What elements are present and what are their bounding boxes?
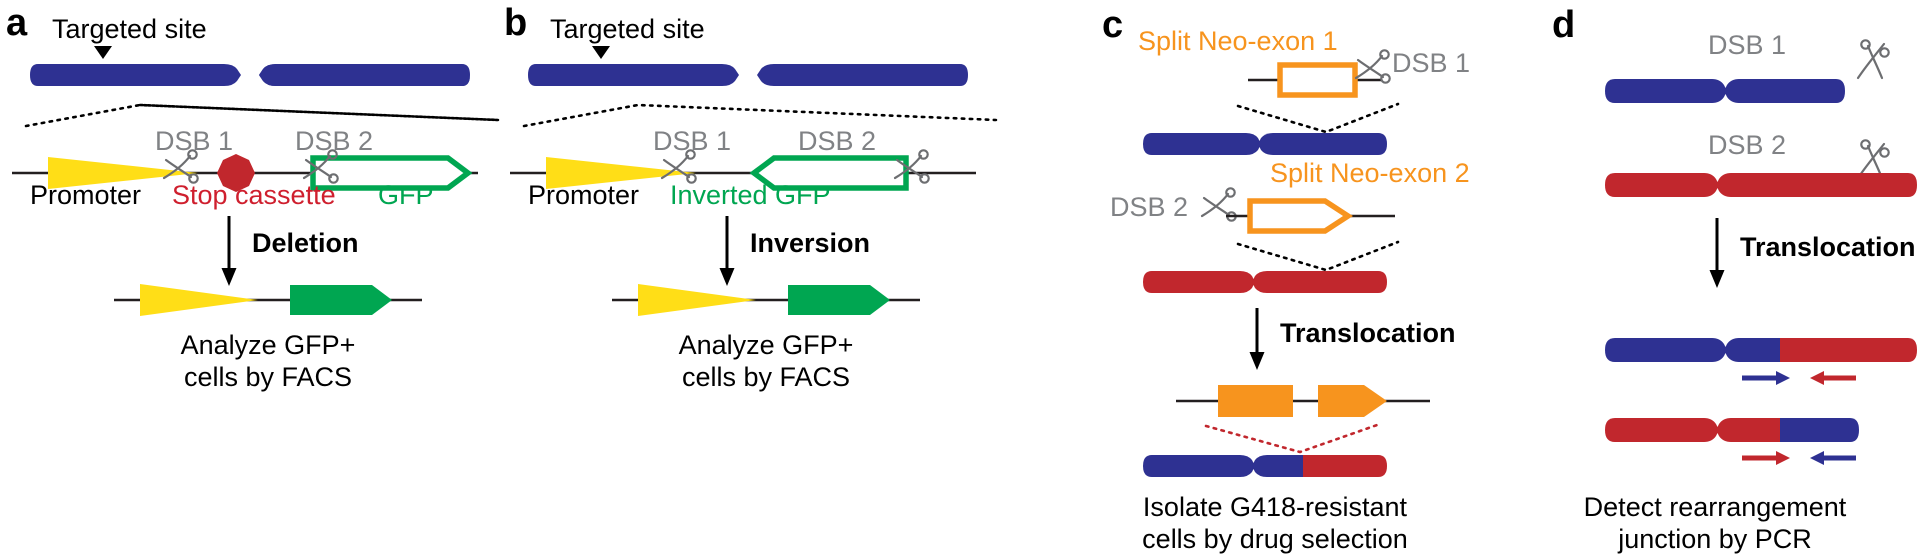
triangle-pointer-icon xyxy=(92,44,114,60)
chromosome-red-c xyxy=(1140,268,1390,296)
panel-b-label: b xyxy=(504,4,527,42)
chromosome-blue-b xyxy=(526,62,970,88)
pcr-primer-arrow-icon-pair-1-d xyxy=(1740,368,1860,388)
panel-c-label: c xyxy=(1102,6,1123,44)
translocation-arrow-label-d: Translocation xyxy=(1740,232,1916,262)
panel-a-label: a xyxy=(6,4,27,42)
expansion-guides-b xyxy=(518,90,1008,130)
caption-line1-d: Detect rearrangement xyxy=(1520,492,1910,522)
derivative-chromosome-c xyxy=(1140,452,1390,480)
caption-line1-a: Analyze GFP+ xyxy=(78,330,458,360)
panel-b: b Targeted site DSB 1 DSB 2 xyxy=(498,0,1018,559)
product-locus-b xyxy=(608,270,928,326)
split-neo-exon2-label: Split Neo-exon 2 xyxy=(1270,158,1470,188)
pcr-primer-arrow-icon-forward-red xyxy=(1742,451,1790,465)
pcr-primer-arrow-icon-reverse-blue xyxy=(1810,451,1856,465)
down-arrow-icon-c xyxy=(1248,306,1274,372)
caption-line2-d: junction by PCR xyxy=(1520,524,1910,554)
inverted-gfp-label-b: Inverted GFP xyxy=(670,180,831,210)
pcr-primer-arrow-icon-reverse-red xyxy=(1810,371,1856,385)
scissors-icon-dsb2-b xyxy=(891,148,933,188)
fused-neo-construct-c xyxy=(1170,380,1450,422)
chromosome-red-d xyxy=(1602,170,1920,200)
down-arrow-icon-d xyxy=(1708,216,1734,290)
neo-exon2-construct xyxy=(1220,194,1420,236)
converge-guides-c3 xyxy=(1200,422,1390,456)
chromosome-blue-a xyxy=(28,62,472,88)
scissors-icon-dsb1-c xyxy=(1352,48,1394,88)
panel-d: d DSB 1 DSB 2 xyxy=(1480,0,1920,559)
pcr-primer-arrow-icon-pair-2-d xyxy=(1740,448,1860,468)
scissors-icon-dsb1-d xyxy=(1850,40,1892,84)
deletion-arrow-label-a: Deletion xyxy=(252,228,359,258)
dsb1-label-d: DSB 1 xyxy=(1708,30,1786,60)
dsb2-label-d: DSB 2 xyxy=(1708,130,1786,160)
triangle-pointer-icon-b xyxy=(590,44,612,60)
inversion-arrow-label-b: Inversion xyxy=(750,228,870,258)
derivative-chromosome-1-d xyxy=(1602,335,1920,365)
expansion-guides-a xyxy=(20,90,510,130)
caption-line2-b: cells by FACS xyxy=(576,362,956,392)
panel-c: c Split Neo-exon 1 DSB 1 Split Neo-ex xyxy=(1080,0,1480,559)
dsb2-label-c: DSB 2 xyxy=(1110,192,1188,222)
gfp-label-a: GFP xyxy=(378,180,434,210)
targeted-site-label-b: Targeted site xyxy=(550,14,705,44)
chromosome-blue-d xyxy=(1602,76,1848,106)
chromosome-blue-c xyxy=(1140,130,1390,158)
promoter-label-b: Promoter xyxy=(528,180,639,210)
caption-line2-c: cells by drug selection xyxy=(1090,524,1460,554)
caption-line1-c: Isolate G418-resistant xyxy=(1090,492,1460,522)
dsb1-label-c: DSB 1 xyxy=(1392,48,1470,78)
caption-line2-a: cells by FACS xyxy=(78,362,458,392)
promoter-label-a: Promoter xyxy=(30,180,141,210)
product-locus-a xyxy=(110,270,430,326)
caption-line1-b: Analyze GFP+ xyxy=(576,330,956,360)
figure-canvas: a Targeted site DSB 1 DSB 2 xyxy=(0,0,1920,559)
pcr-primer-arrow-icon-forward-blue xyxy=(1742,371,1790,385)
split-neo-exon1-label: Split Neo-exon 1 xyxy=(1138,26,1338,56)
stop-cassette-label-a: Stop cassette xyxy=(172,180,336,210)
panel-a: a Targeted site DSB 1 DSB 2 xyxy=(0,0,520,559)
panel-d-label: d xyxy=(1552,6,1575,44)
derivative-chromosome-2-d xyxy=(1602,415,1920,445)
translocation-arrow-label-c: Translocation xyxy=(1280,318,1456,348)
targeted-site-label-a: Targeted site xyxy=(52,14,207,44)
